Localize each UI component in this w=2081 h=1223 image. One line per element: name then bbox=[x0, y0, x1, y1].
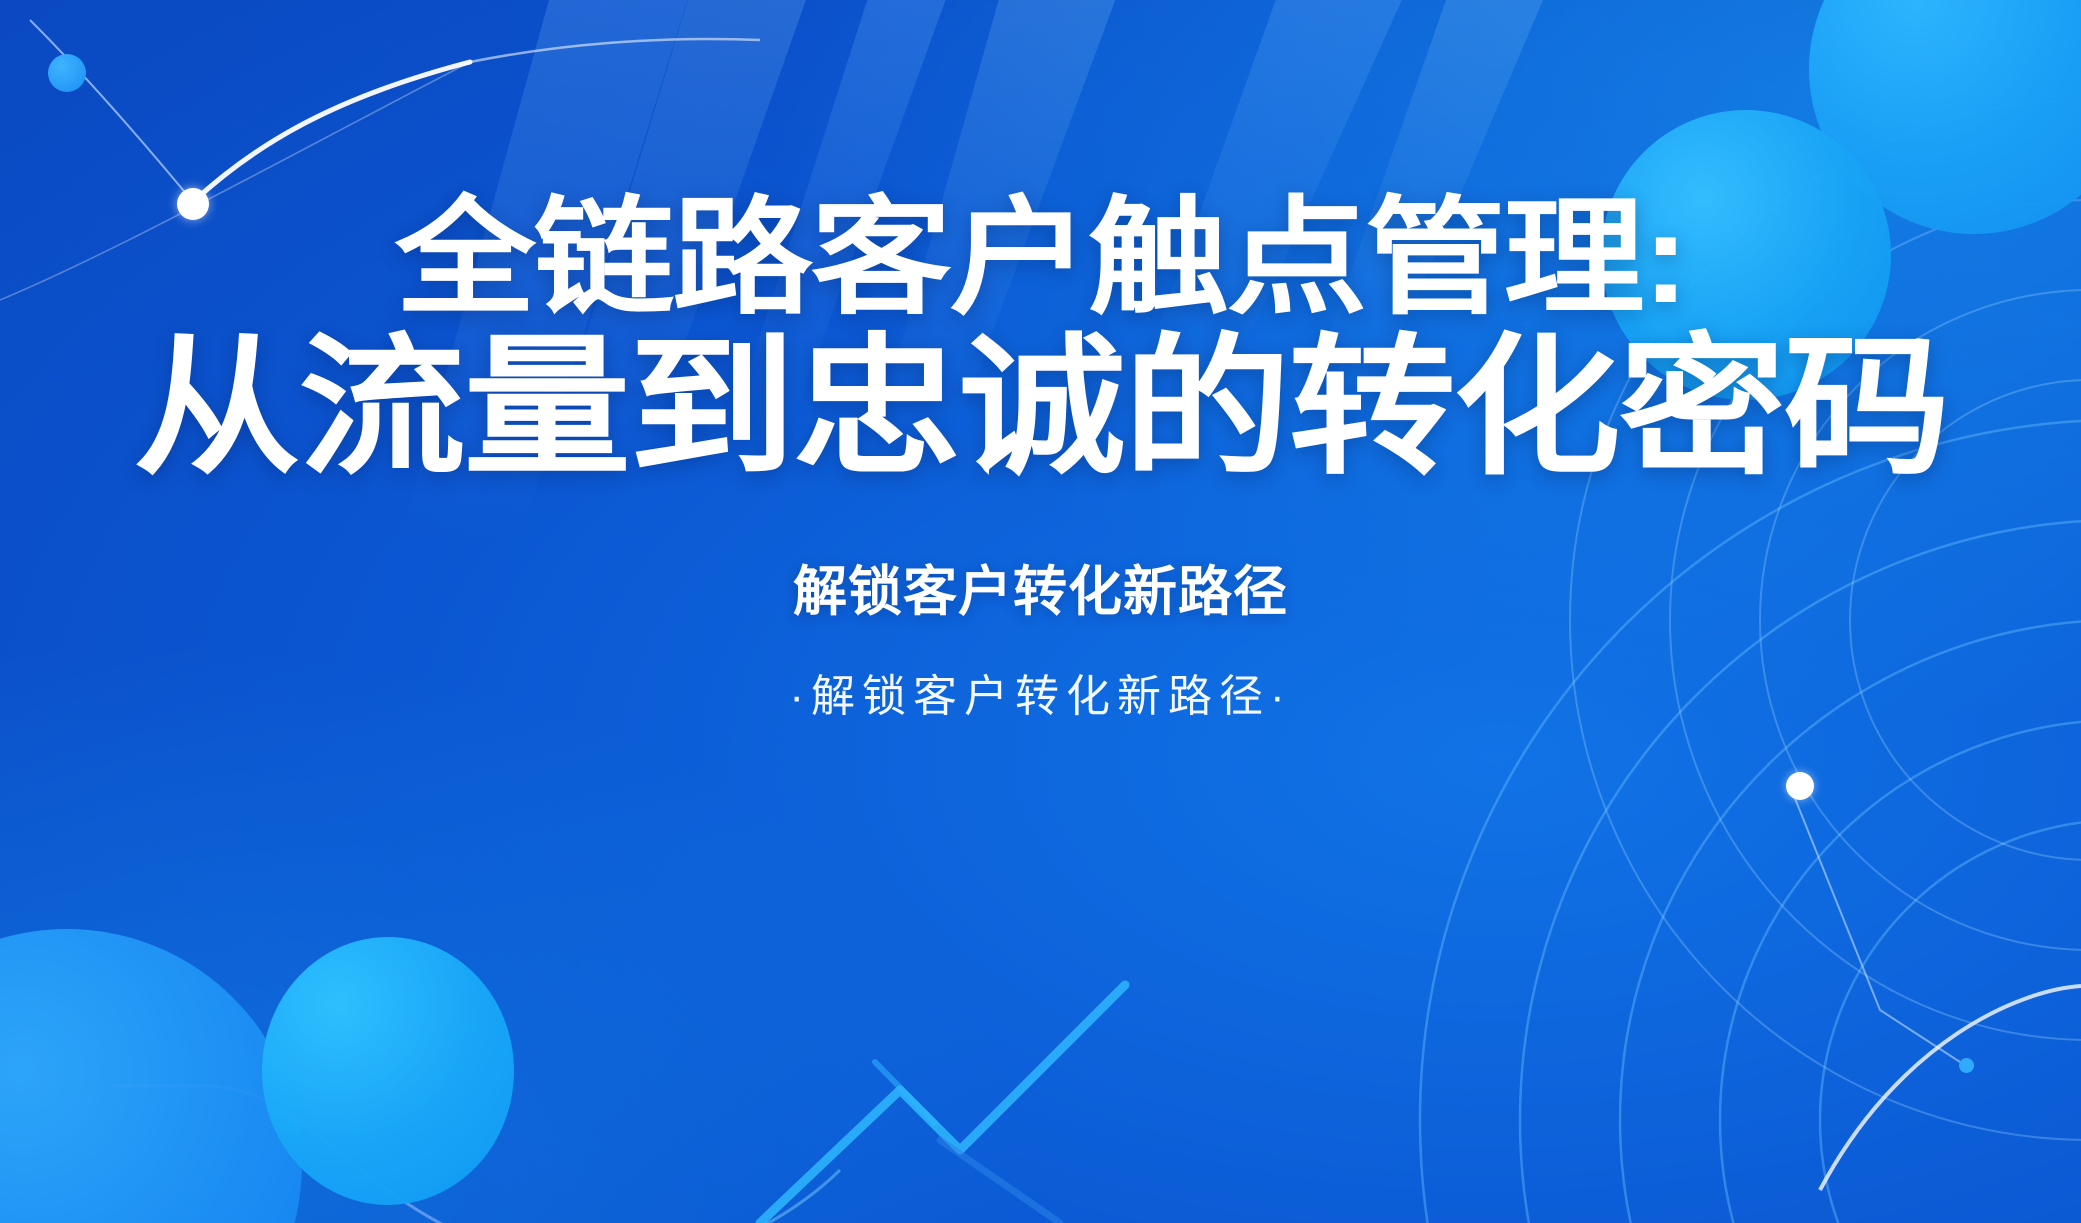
poster-canvas: 全链路客户触点管理: 从流量到忠诚的转化密码 解锁客户转化新路径 ·解锁客户转化… bbox=[0, 0, 2081, 1223]
title-line-2: 从流量到忠诚的转化密码 bbox=[133, 333, 1948, 483]
page-title: 全链路客户触点管理: 从流量到忠诚的转化密码 bbox=[216, 196, 1866, 483]
title-line-1: 全链路客户触点管理: bbox=[133, 196, 1948, 323]
subtitle: 解锁客户转化新路径 bbox=[793, 547, 1288, 626]
poster-content: 全链路客户触点管理: 从流量到忠诚的转化密码 解锁客户转化新路径 ·解锁客户转化… bbox=[0, 0, 2081, 1223]
tagline: ·解锁客户转化新路径· bbox=[789, 660, 1291, 724]
